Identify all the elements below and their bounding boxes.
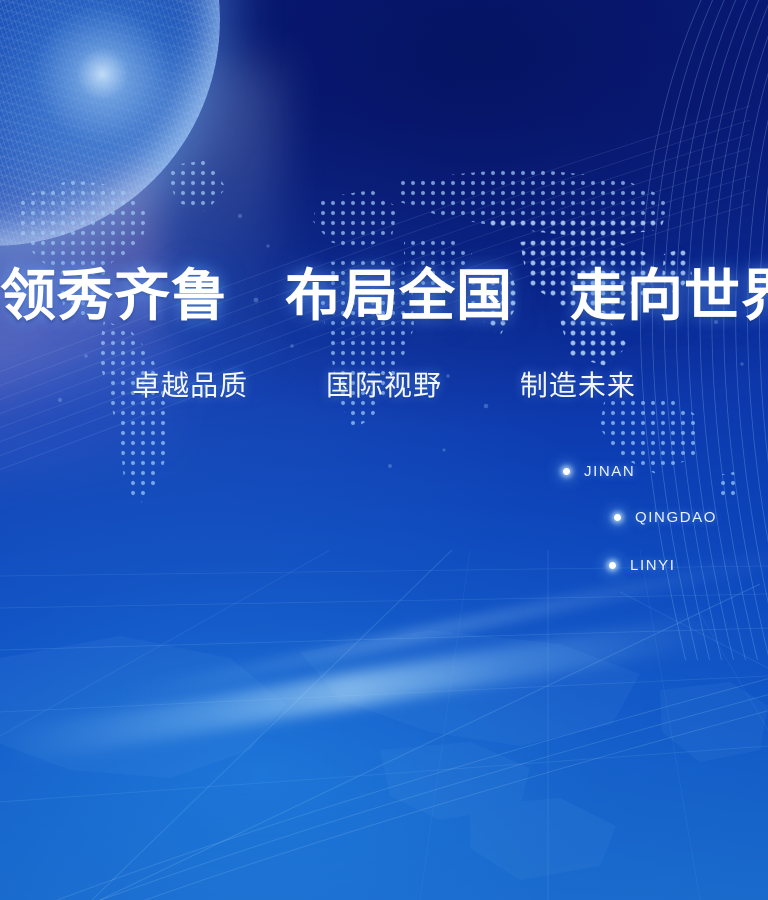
headline-part-2: 布局全国 (285, 263, 513, 329)
city-label-qingdao: QINGDAO (635, 509, 717, 526)
headline-part-1: 领秀齐鲁 (0, 263, 228, 329)
city-label-linyi: LINYI (630, 557, 676, 574)
subtitle-part-2: 国际视野 (326, 369, 442, 402)
banner-content: 领秀齐鲁 布局全国 走向世界 卓越品质 国际视野 制造未来 JINAN QING… (0, 0, 768, 900)
city-marker-qingdao: QINGDAO (614, 509, 717, 526)
subtitle: 卓越品质 国际视野 制造未来 (0, 369, 768, 403)
city-dot-icon (614, 514, 621, 521)
subtitle-part-1: 卓越品质 (132, 369, 248, 402)
city-dot-icon (609, 562, 616, 569)
hero-banner: 领秀齐鲁 布局全国 走向世界 卓越品质 国际视野 制造未来 JINAN QING… (0, 0, 768, 900)
headline-part-3: 走向世界 (570, 263, 768, 329)
city-marker-jinan: JINAN (563, 463, 635, 480)
city-dot-icon (563, 468, 570, 475)
city-marker-linyi: LINYI (609, 557, 676, 574)
headline: 领秀齐鲁 布局全国 走向世界 (0, 264, 768, 328)
city-label-jinan: JINAN (584, 463, 635, 480)
subtitle-part-3: 制造未来 (520, 369, 636, 402)
